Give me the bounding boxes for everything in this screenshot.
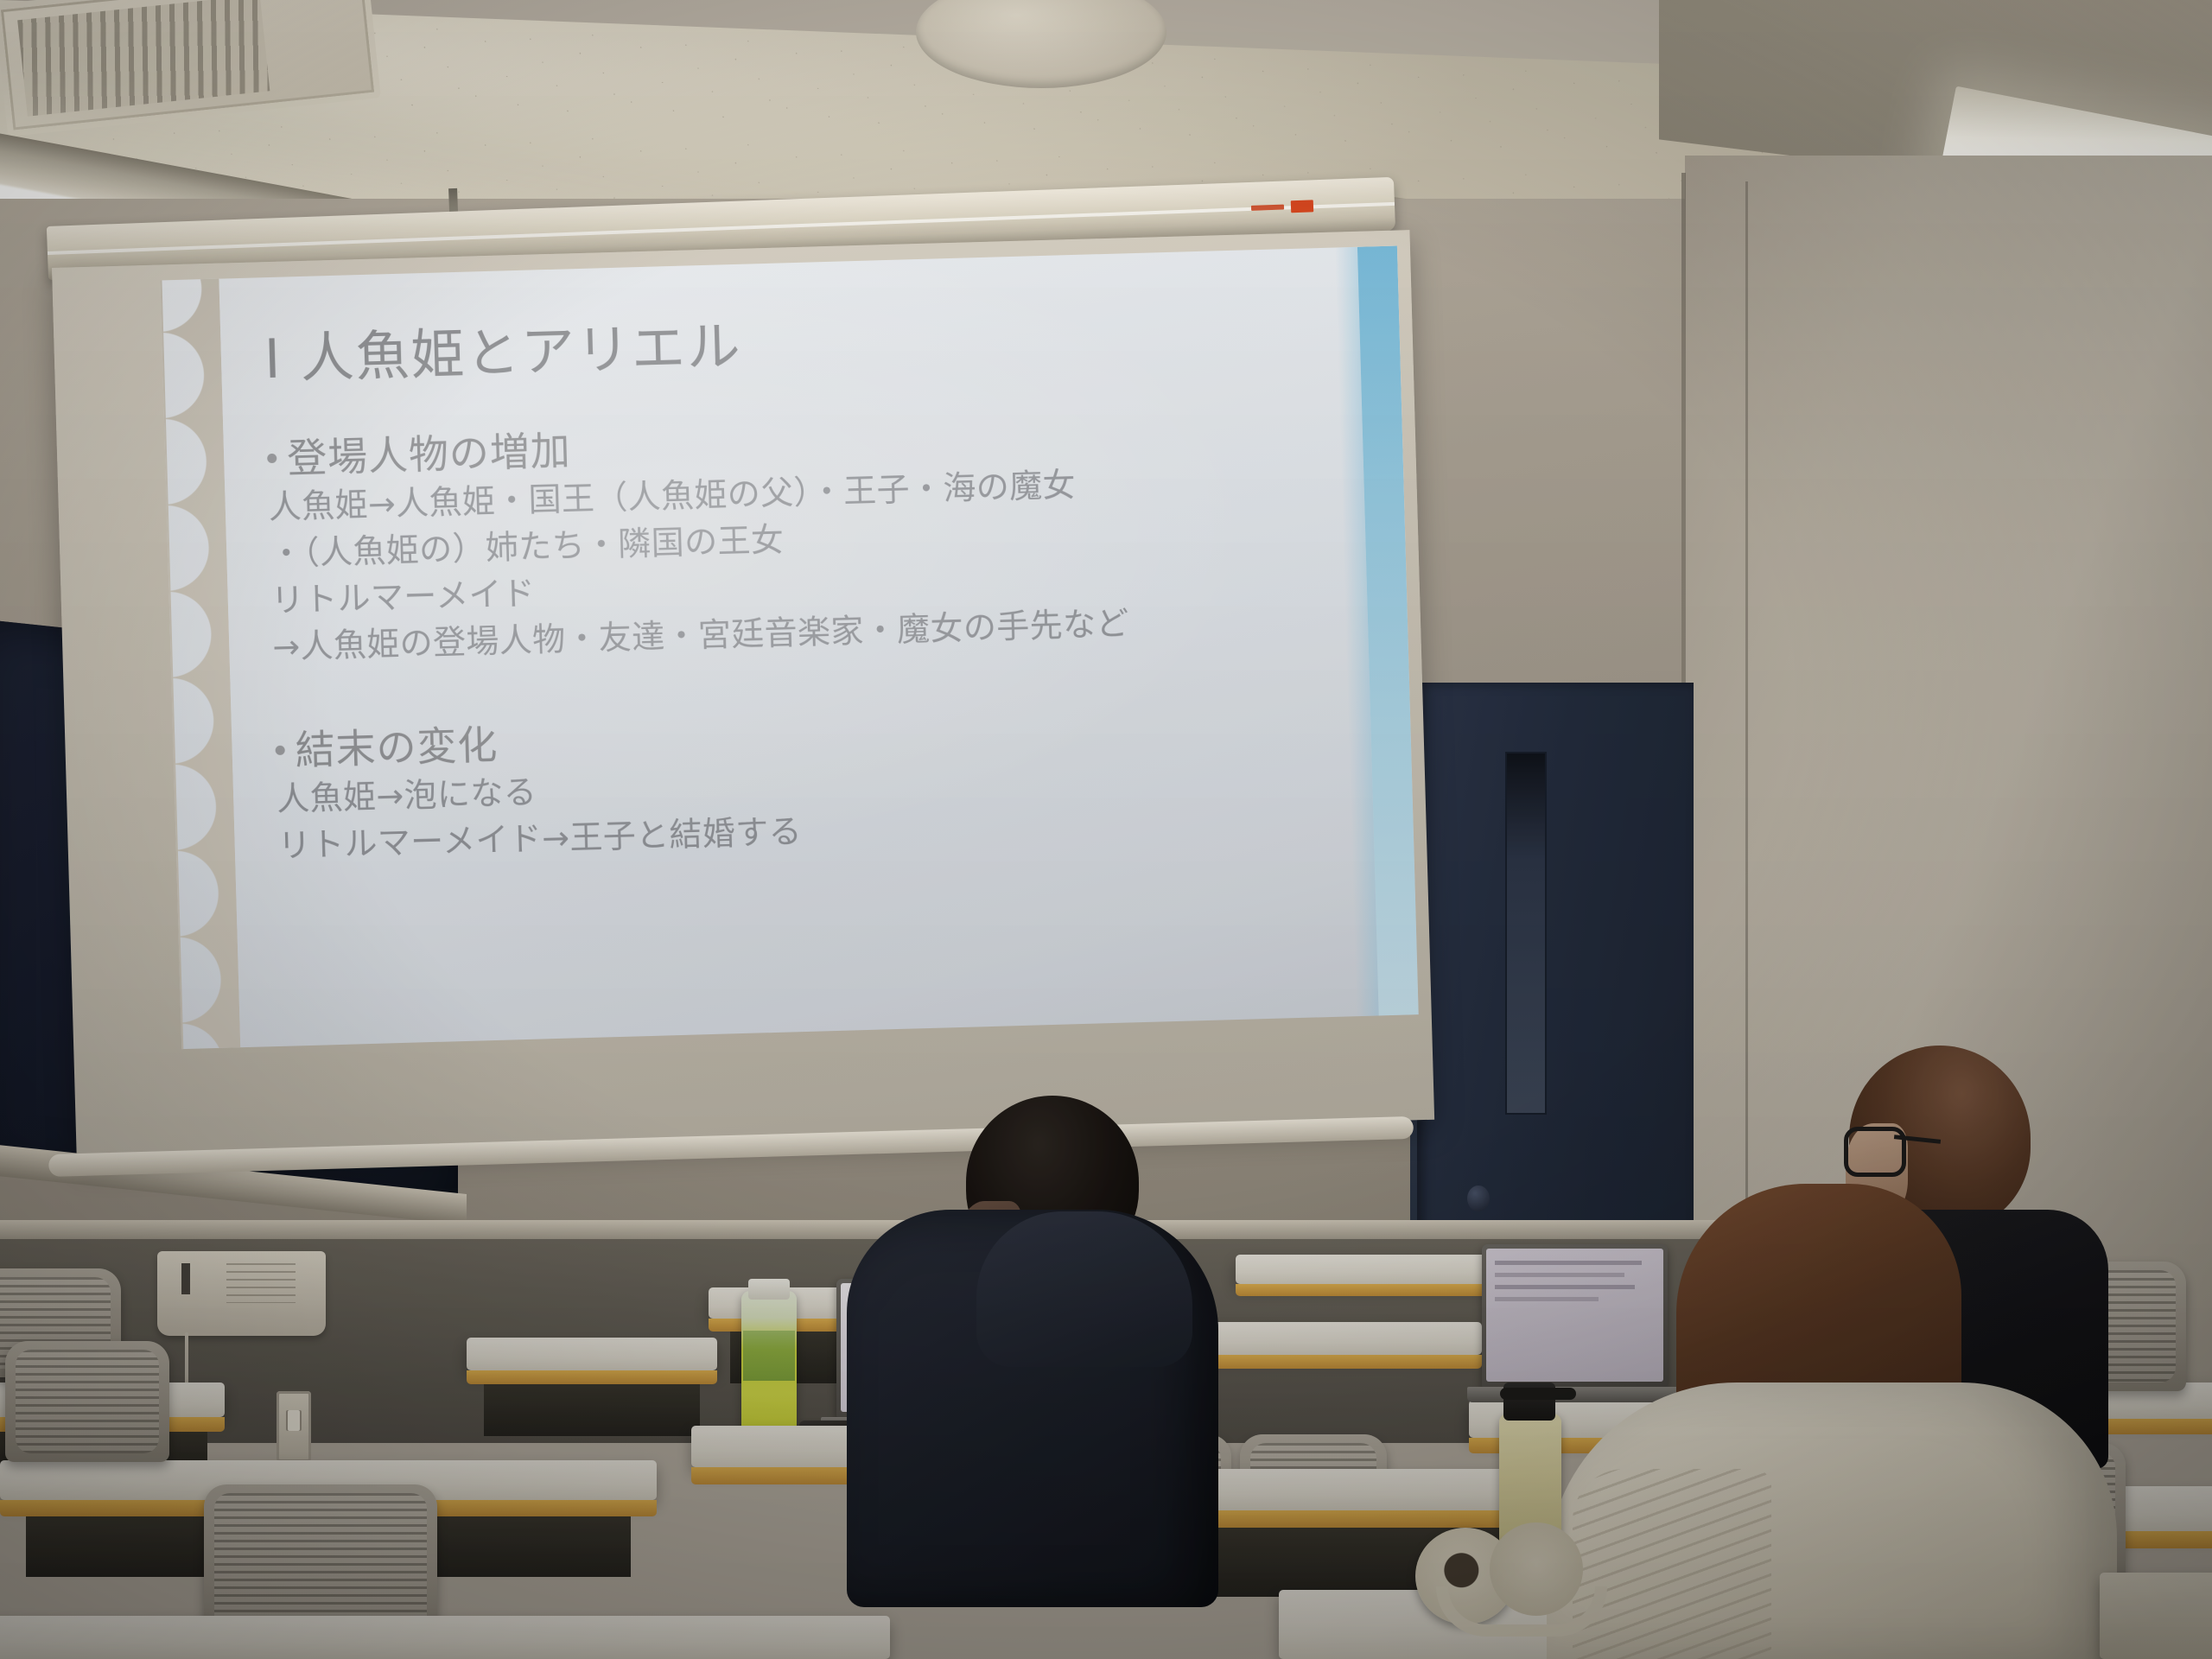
- laptop-open[interactable]: [1482, 1244, 1668, 1387]
- projection-screen: Ⅰ 人魚姫とアリエル 登場人物の増加 人魚姫→人魚姫・国王（人魚姫の父）・王子・…: [52, 230, 1434, 1157]
- classroom-desk: [467, 1338, 717, 1370]
- classroom-desk: [1205, 1322, 1482, 1355]
- hoodie-hood: [976, 1211, 1192, 1367]
- power-outlet[interactable]: [276, 1391, 311, 1462]
- bottle-handle[interactable]: [1500, 1388, 1576, 1400]
- desk-edge-trim: [1205, 1355, 1482, 1369]
- bottle-label: [743, 1331, 795, 1381]
- desk-edge-trim: [1236, 1284, 1495, 1296]
- door-lock-icon[interactable]: [1467, 1185, 1490, 1211]
- classroom-desk: [1236, 1255, 1495, 1284]
- wall-paper-dispenser: [157, 1251, 326, 1336]
- lecture-room-photo: Ⅰ 人魚姫とアリエル 登場人物の増加 人魚姫→人魚姫・国王（人魚姫の父）・王子・…: [0, 0, 2212, 1659]
- slide-scallop-edge: [160, 246, 241, 1050]
- bottle-cap: [748, 1279, 790, 1300]
- desk-underframe: [484, 1384, 700, 1436]
- classroom-desk: [2100, 1573, 2212, 1659]
- slide-bullet-heading-1-text: 登場人物の増加: [287, 427, 572, 481]
- bullet-dot-icon: [276, 746, 285, 755]
- classroom-desk: [0, 1616, 890, 1659]
- roller-brand-logo-icon: [1251, 198, 1316, 216]
- slide-title: Ⅰ 人魚姫とアリエル: [264, 287, 1306, 394]
- headphone-headband: [1436, 1586, 1607, 1637]
- desk-edge-trim: [467, 1370, 717, 1384]
- bullet-dot-icon: [267, 454, 276, 463]
- projected-slide: Ⅰ 人魚姫とアリエル 登場人物の増加 人魚姫→人魚姫・国王（人魚姫の父）・王子・…: [160, 246, 1418, 1050]
- over-ear-headphones[interactable]: [1415, 1503, 1605, 1633]
- laptop-screen: [1486, 1249, 1663, 1382]
- classroom-chair[interactable]: [5, 1341, 169, 1462]
- slide-bullet-heading-2-text: 結末の変化: [295, 721, 499, 774]
- slide-body: 登場人物の増加 人魚姫→人魚姫・国王（人魚姫の父）・王子・海の魔女 ・（人魚姫の…: [266, 399, 1319, 870]
- wall-rail-molding: [0, 1220, 1719, 1239]
- door-window: [1505, 752, 1547, 1115]
